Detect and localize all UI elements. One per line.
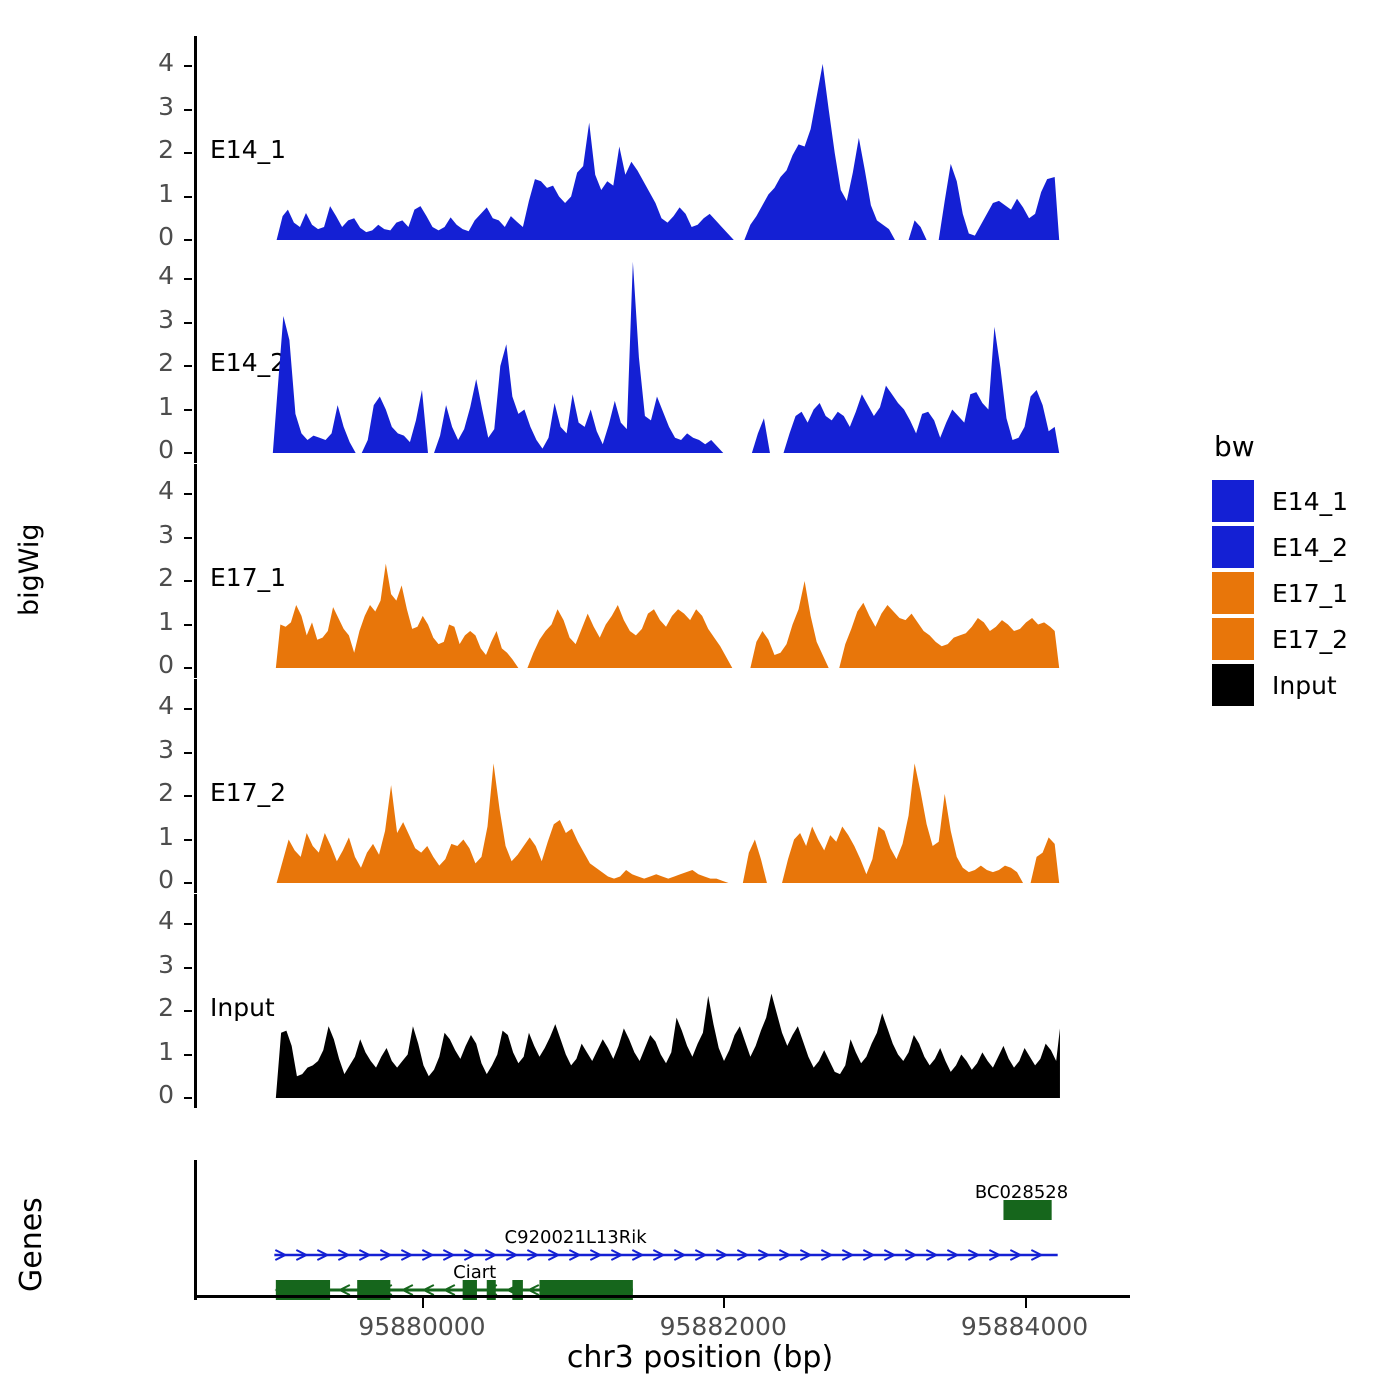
- legend: bw E14_1E14_2E17_1E17_2Input: [1212, 430, 1392, 709]
- legend-item-e14_2[interactable]: E14_2: [1212, 525, 1392, 569]
- legend-label: E17_2: [1272, 625, 1348, 654]
- coverage-area-e14_2: [0, 253, 1200, 457]
- legend-swatch-e17_2: [1212, 618, 1254, 660]
- coverage-area-e17_1: [0, 468, 1200, 672]
- legend-label: E14_2: [1272, 533, 1348, 562]
- coverage-area-input: [0, 898, 1200, 1102]
- coverage-segment: [276, 564, 519, 668]
- x-tick: [723, 1298, 725, 1308]
- gene-annotation-panel: BC028528C920021L13RikCiart: [0, 1150, 1200, 1310]
- coverage-segment: [273, 316, 428, 453]
- legend-swatch-e17_1: [1212, 572, 1254, 614]
- x-tick: [422, 1298, 424, 1308]
- coverage-segment: [277, 763, 729, 883]
- coverage-segment: [434, 262, 723, 453]
- coverage-segment: [752, 418, 770, 453]
- x-tick-label: 95880000: [312, 1312, 532, 1341]
- exon-box: [1003, 1200, 1051, 1220]
- genome-browser-figure: bigWig Genes 01234E14_101234E14_201234E1…: [0, 0, 1400, 1400]
- track-panel-e14_1: 01234E14_1: [0, 40, 1200, 252]
- legend-item-e17_1[interactable]: E17_1: [1212, 571, 1392, 615]
- x-tick-label: 95884000: [915, 1312, 1135, 1341]
- coverage-segment: [784, 327, 1060, 453]
- coverage-segment: [909, 220, 927, 240]
- gene-label-ciart: Ciart: [453, 1262, 496, 1283]
- coverage-segment: [527, 605, 732, 668]
- track-panel-input: 01234Input: [0, 898, 1200, 1110]
- x-tick-label: 95882000: [613, 1312, 833, 1341]
- legend-label: E17_1: [1272, 579, 1348, 608]
- track-panel-e14_2: 01234E14_2: [0, 253, 1200, 465]
- legend-item-input[interactable]: Input: [1212, 663, 1392, 707]
- legend-swatch-input: [1212, 664, 1254, 706]
- coverage-segment: [750, 581, 828, 668]
- gene-feature-bc028528[interactable]: [1003, 1200, 1051, 1220]
- coverage-segment: [939, 164, 1060, 240]
- legend-title: bw: [1214, 430, 1392, 463]
- x-axis-title: chr3 position (bp): [0, 1340, 1400, 1375]
- track-panel-e17_1: 01234E17_1: [0, 468, 1200, 680]
- legend-item-e17_2[interactable]: E17_2: [1212, 617, 1392, 661]
- coverage-segment: [744, 64, 895, 240]
- coverage-segment: [276, 994, 1060, 1098]
- x-axis-line: [196, 1295, 1130, 1298]
- legend-items: E14_1E14_2E17_1E17_2Input: [1212, 479, 1392, 707]
- legend-swatch-e14_1: [1212, 480, 1254, 522]
- legend-label: Input: [1272, 671, 1337, 700]
- gene-feature-c920021l13rik[interactable]: [274, 1250, 1057, 1260]
- gene-label-bc028528: BC028528: [975, 1182, 1068, 1203]
- coverage-segment: [782, 763, 1023, 883]
- coverage-segment: [743, 840, 767, 883]
- gene-label-c920021l13rik: C920021L13Rik: [505, 1227, 647, 1248]
- coverage-segment: [277, 123, 734, 240]
- legend-swatch-e14_2: [1212, 526, 1254, 568]
- x-tick: [1025, 1298, 1027, 1308]
- legend-label: E14_1: [1272, 487, 1348, 516]
- track-panel-e17_2: 01234E17_2: [0, 683, 1200, 895]
- coverage-segment: [839, 603, 1059, 668]
- coverage-area-e14_1: [0, 40, 1200, 244]
- coverage-segment: [1031, 837, 1060, 883]
- legend-item-e14_1[interactable]: E14_1: [1212, 479, 1392, 523]
- coverage-area-e17_2: [0, 683, 1200, 887]
